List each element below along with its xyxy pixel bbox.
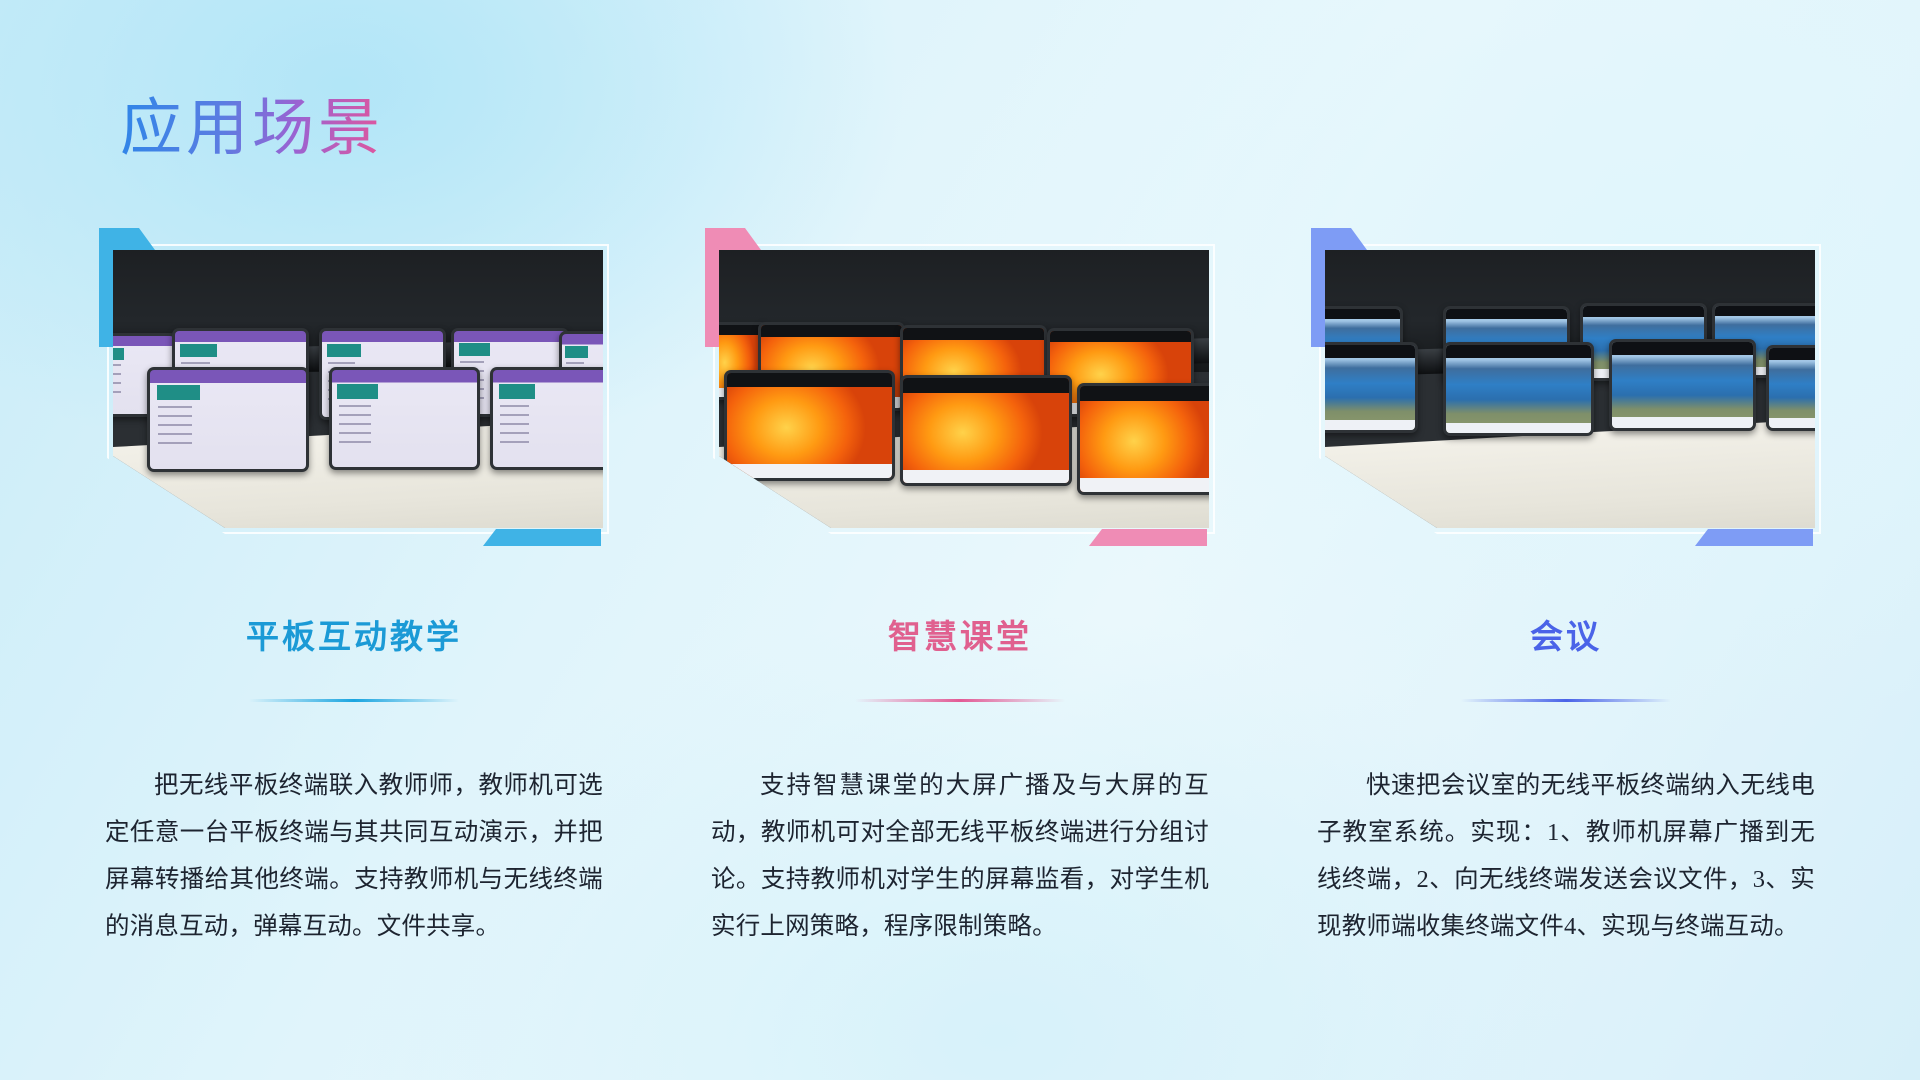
- corner-bracket-icon: [1311, 242, 1325, 347]
- page-title: 应用场景: [120, 94, 384, 165]
- tablet-device: [1766, 345, 1815, 431]
- tablet-device: [147, 367, 309, 473]
- title-divider: [855, 699, 1065, 702]
- scenario-description: 把无线平板终端联入教师师，教师机可选定任意一台平板终端与其共同互动演示，并把屏幕…: [105, 762, 603, 950]
- tablet-device: [724, 370, 896, 481]
- scenario-description: 快速把会议室的无线平板终端纳入无线电子教室系统。实现：1、教师机屏幕广播到无线终…: [1317, 762, 1815, 950]
- scenario-card-tablet-interactive-teaching[interactable]: 平板互动教学 把无线平板终端联入教师师，教师机可选定任意一台平板终端与其共同互动…: [99, 228, 609, 950]
- scenario-photo[interactable]: [719, 250, 1209, 528]
- scenario-title: 智慧课堂: [705, 622, 1215, 655]
- tablet-device: [490, 367, 603, 470]
- application-scenarios-page: 应用场景: [0, 0, 1920, 1080]
- corner-bracket-icon: [99, 242, 113, 347]
- tablet-device: [1077, 383, 1209, 494]
- scenario-card-smart-classroom[interactable]: 智慧课堂 支持智慧课堂的大屏广播及与大屏的互动，教师机可对全部无线平板终端进行分…: [705, 228, 1215, 950]
- scene-broadcast-tablets: [719, 250, 1209, 528]
- tablet-device: [1443, 342, 1595, 437]
- tablet-device: [1325, 342, 1418, 434]
- tablet-row: [719, 250, 1209, 528]
- scenario-title: 平板互动教学: [99, 622, 609, 655]
- corner-bracket-icon: [705, 242, 719, 347]
- corner-bar-icon: [1089, 529, 1207, 546]
- scene-classroom-tablets: [113, 250, 603, 528]
- tablet-device: [329, 367, 481, 470]
- tablet-row: [113, 250, 603, 528]
- scenario-title: 会议: [1311, 622, 1821, 655]
- scenario-card-conference[interactable]: 会议 快速把会议室的无线平板终端纳入无线电子教室系统。实现：1、教师机屏幕广播到…: [1311, 228, 1821, 950]
- scene-conference-tablets: [1325, 250, 1815, 528]
- photo-frame: [705, 228, 1215, 548]
- corner-bar-icon: [1695, 529, 1813, 546]
- corner-bar-icon: [483, 529, 601, 546]
- photo-frame: [1311, 228, 1821, 548]
- title-divider: [1461, 699, 1671, 702]
- scenario-description: 支持智慧课堂的大屏广播及与大屏的互动，教师机可对全部无线平板终端进行分组讨论。支…: [711, 762, 1209, 950]
- photo-frame: [99, 228, 609, 548]
- scenario-photo[interactable]: [1325, 250, 1815, 528]
- scenario-card-list: 平板互动教学 把无线平板终端联入教师师，教师机可选定任意一台平板终端与其共同互动…: [0, 228, 1920, 950]
- tablet-row: [1325, 250, 1815, 528]
- title-divider: [249, 699, 459, 702]
- tablet-device: [1609, 339, 1756, 431]
- tablet-device: [900, 375, 1072, 486]
- scenario-photo[interactable]: [113, 250, 603, 528]
